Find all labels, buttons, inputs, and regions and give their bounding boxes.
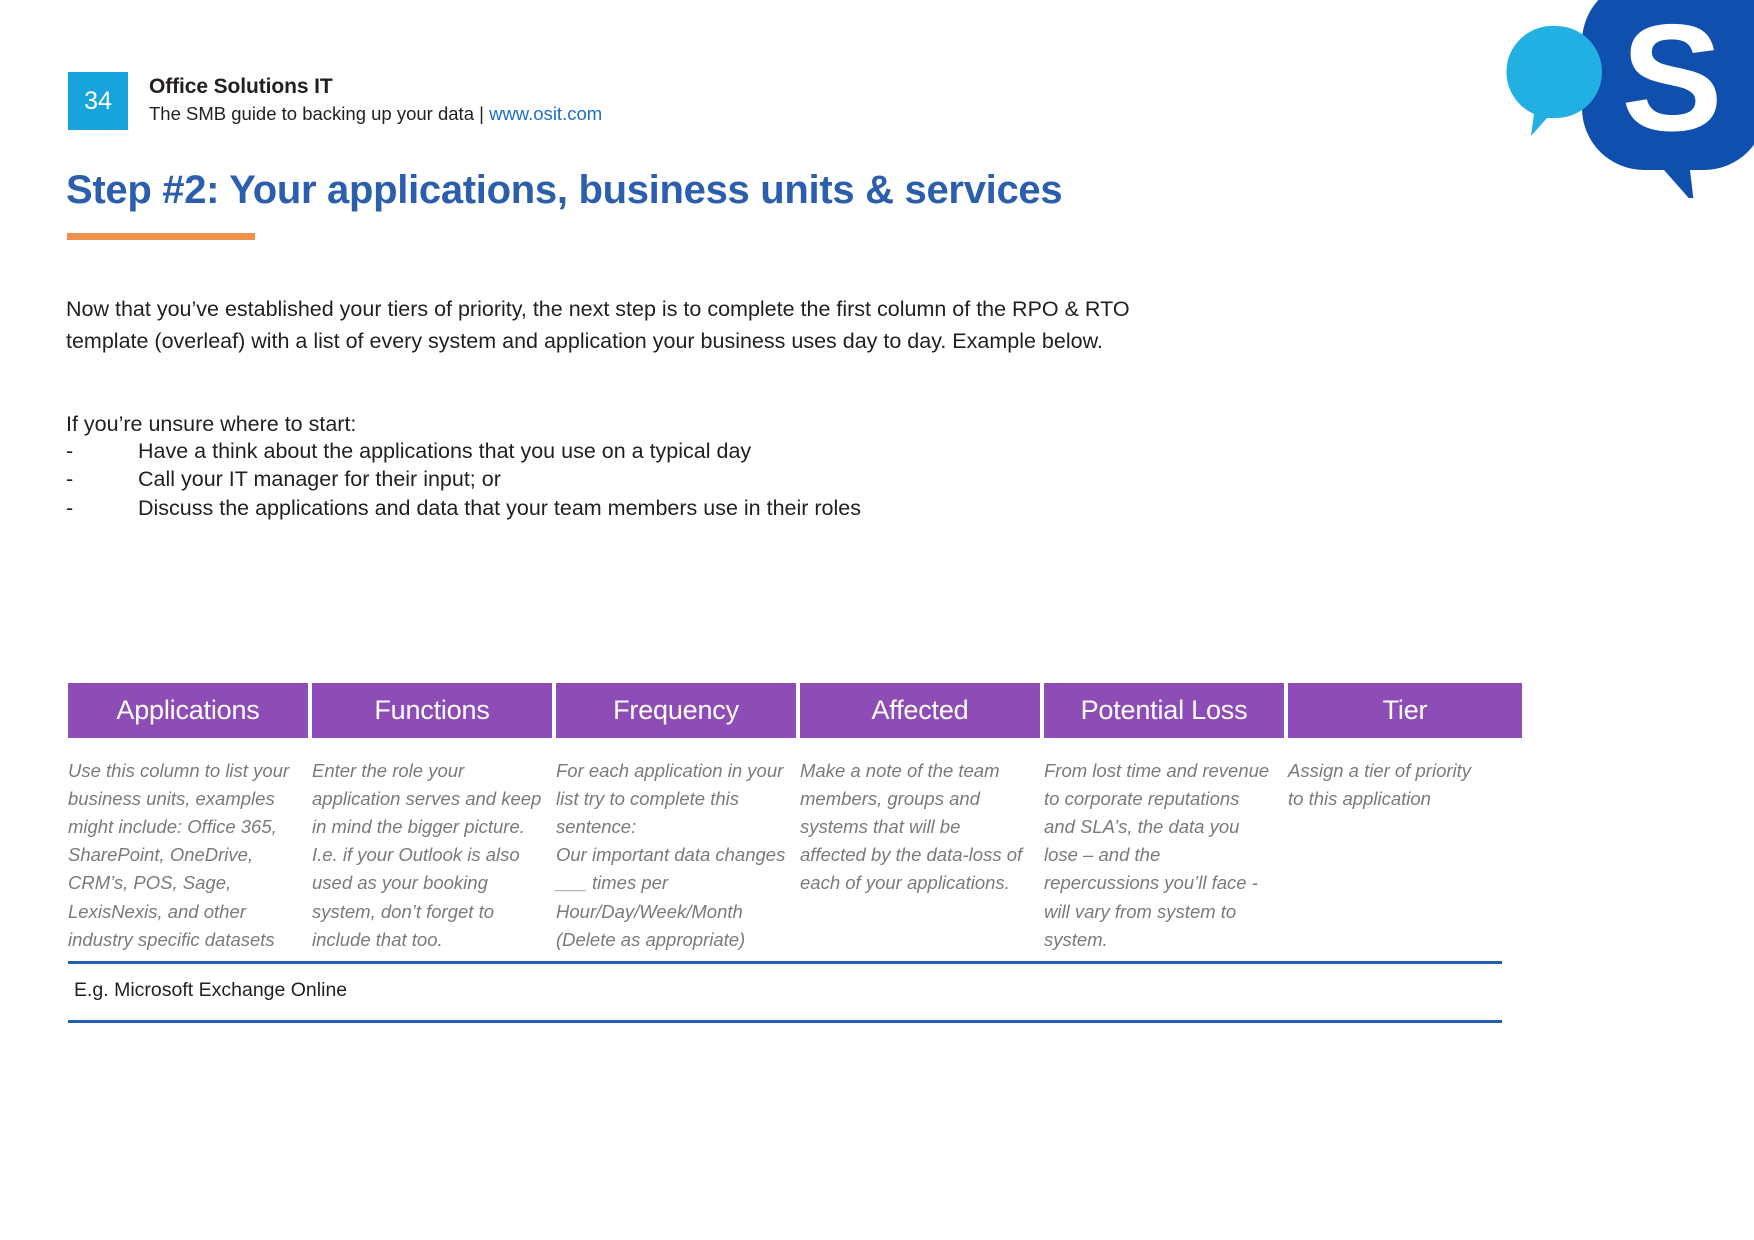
document-page: 34 Office Solutions IT The SMB guide to … xyxy=(0,0,1754,1240)
instruction-cell-affected: Make a note of the team members, groups … xyxy=(800,757,1044,954)
instruction-cell-applications: Use this column to list your business un… xyxy=(68,757,312,954)
list-item: - Discuss the applications and data that… xyxy=(66,494,861,522)
list-item: - Have a think about the applications th… xyxy=(66,437,861,465)
instruction-cell-functions: Enter the role your application serves a… xyxy=(312,757,556,954)
column-header-tier: Tier xyxy=(1288,683,1522,738)
header-subtitle: The SMB guide to backing up your data | … xyxy=(149,102,602,126)
intro-paragraph: Now that you’ve established your tiers o… xyxy=(66,294,1136,357)
header-subtitle-text: The SMB guide to backing up your data | xyxy=(149,103,489,124)
office-solutions-it-logo: S xyxy=(1494,0,1754,198)
list-item-label: Have a think about the applications that… xyxy=(138,437,751,465)
table-header-row: Applications Functions Frequency Affecte… xyxy=(68,683,1502,738)
page-header: 34 Office Solutions IT The SMB guide to … xyxy=(68,72,602,130)
bullet-list: - Have a think about the applications th… xyxy=(66,437,861,522)
header-text-block: Office Solutions IT The SMB guide to bac… xyxy=(149,72,602,126)
table-instruction-row: Use this column to list your business un… xyxy=(68,757,1502,954)
list-item-label: Discuss the applications and data that y… xyxy=(138,494,861,522)
column-header-applications: Applications xyxy=(68,683,308,738)
page-number-label: 34 xyxy=(84,89,112,114)
list-item-label: Call your IT manager for their input; or xyxy=(138,465,501,493)
svg-text:S: S xyxy=(1621,0,1722,163)
bullet-marker: - xyxy=(66,494,138,522)
brand-name: Office Solutions IT xyxy=(149,75,602,100)
rpo-rto-table: Applications Functions Frequency Affecte… xyxy=(68,683,1502,1023)
page-number-badge: 34 xyxy=(68,72,128,130)
table-example-row[interactable]: E.g. Microsoft Exchange Online xyxy=(68,964,1502,1021)
instruction-cell-potential-loss: From lost time and revenue to corporate … xyxy=(1044,757,1288,954)
example-cell-applications: E.g. Microsoft Exchange Online xyxy=(74,977,1502,1005)
column-header-functions: Functions xyxy=(312,683,552,738)
bullet-marker: - xyxy=(66,465,138,493)
instruction-cell-tier: Assign a tier of priority to this applic… xyxy=(1288,757,1502,954)
column-header-potential-loss: Potential Loss xyxy=(1044,683,1284,738)
list-item: - Call your IT manager for their input; … xyxy=(66,465,861,493)
instruction-cell-frequency: For each application in your list try to… xyxy=(556,757,800,954)
page-title: Step #2: Your applications, business uni… xyxy=(66,168,1062,213)
bullet-marker: - xyxy=(66,437,138,465)
table-divider-bottom xyxy=(68,1020,1502,1023)
column-header-frequency: Frequency xyxy=(556,683,796,738)
unsure-heading: If you’re unsure where to start: xyxy=(66,409,356,441)
column-header-affected: Affected xyxy=(800,683,1040,738)
header-website-link[interactable]: www.osit.com xyxy=(489,103,602,124)
title-underline-rule xyxy=(67,233,255,240)
